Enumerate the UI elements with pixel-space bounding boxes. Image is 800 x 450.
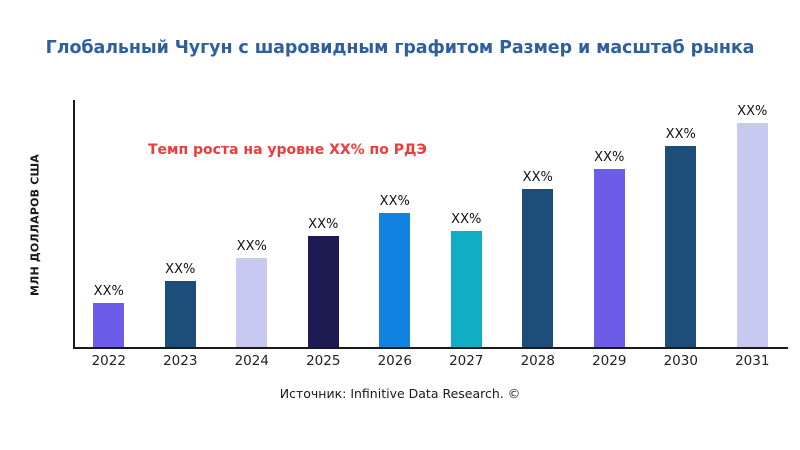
x-axis-tick-labels: 2022202320242025202620272028202920302031 xyxy=(73,353,788,369)
x-tick-2022: 2022 xyxy=(73,353,145,369)
x-tick-2030: 2030 xyxy=(645,353,717,369)
bar-group-2029: XX% xyxy=(574,100,646,347)
x-tick-2026: 2026 xyxy=(359,353,431,369)
x-tick-2025: 2025 xyxy=(288,353,360,369)
bar-value-label: XX% xyxy=(94,284,124,299)
bar-2030[interactable] xyxy=(665,146,696,347)
bar-2023[interactable] xyxy=(165,281,196,347)
bar-2027[interactable] xyxy=(451,231,482,347)
source-caption: Источник: Infinitive Data Research. © xyxy=(0,386,800,401)
bar-value-label: XX% xyxy=(523,170,553,185)
bar-value-label: XX% xyxy=(737,104,767,119)
x-axis-line xyxy=(73,347,788,349)
x-tick-2024: 2024 xyxy=(216,353,288,369)
bar-group-2028: XX% xyxy=(502,100,574,347)
bar-group-2025: XX% xyxy=(288,100,360,347)
bar-value-label: XX% xyxy=(237,239,267,254)
bar-2028[interactable] xyxy=(522,189,553,347)
bar-2029[interactable] xyxy=(594,169,625,348)
bar-group-2026: XX% xyxy=(359,100,431,347)
bar-2022[interactable] xyxy=(93,303,124,348)
bar-value-label: XX% xyxy=(594,150,624,165)
bar-group-2031: XX% xyxy=(717,100,789,347)
bar-series: XX%XX%XX%XX%XX%XX%XX%XX%XX%XX% xyxy=(73,100,788,347)
y-axis-label: МЛН ДОЛЛАРОВ США xyxy=(29,154,42,296)
bar-2031[interactable] xyxy=(737,123,768,347)
plot-area: XX%XX%XX%XX%XX%XX%XX%XX%XX%XX% xyxy=(73,100,788,349)
y-axis-label-wrapper: МЛН ДОЛЛАРОВ США xyxy=(24,100,46,350)
bar-group-2023: XX% xyxy=(145,100,217,347)
bar-value-label: XX% xyxy=(165,262,195,277)
x-tick-2027: 2027 xyxy=(431,353,503,369)
bar-2025[interactable] xyxy=(308,236,339,347)
growth-rate-annotation: Темп роста на уровне XX% по РДЭ xyxy=(148,142,427,158)
bar-group-2024: XX% xyxy=(216,100,288,347)
x-tick-2023: 2023 xyxy=(145,353,217,369)
bar-2024[interactable] xyxy=(236,258,267,347)
bar-value-label: XX% xyxy=(308,217,338,232)
chart-container: Глобальный Чугун с шаровидным графитом Р… xyxy=(0,0,800,450)
bar-2026[interactable] xyxy=(379,213,410,347)
x-tick-2029: 2029 xyxy=(574,353,646,369)
bar-value-label: XX% xyxy=(666,127,696,142)
bar-group-2022: XX% xyxy=(73,100,145,347)
bar-group-2030: XX% xyxy=(645,100,717,347)
bar-value-label: XX% xyxy=(380,194,410,209)
x-tick-2028: 2028 xyxy=(502,353,574,369)
bar-value-label: XX% xyxy=(451,212,481,227)
chart-title: Глобальный Чугун с шаровидным графитом Р… xyxy=(0,38,800,58)
x-tick-2031: 2031 xyxy=(717,353,789,369)
bar-group-2027: XX% xyxy=(431,100,503,347)
